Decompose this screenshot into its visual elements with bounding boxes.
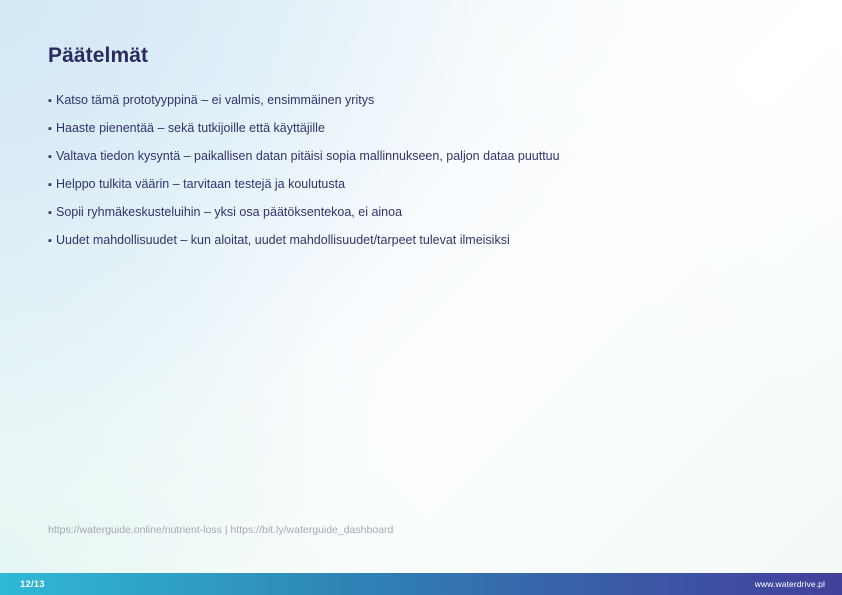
list-item: ▪ Sopii ryhmäkeskusteluihin – yksi osa p… <box>48 205 560 233</box>
list-item-label: Valtava tiedon kysyntä – paikallisen dat… <box>56 149 560 163</box>
bullet-icon: ▪ <box>48 124 56 135</box>
bullet-icon: ▪ <box>48 180 56 191</box>
list-item: ▪ Haaste pienentää – sekä tutkijoille et… <box>48 121 560 149</box>
bullet-icon: ▪ <box>48 236 56 247</box>
list-item: ▪ Valtava tiedon kysyntä – paikallisen d… <box>48 149 560 177</box>
page-title: Päätelmät <box>48 44 148 68</box>
list-item: ▪ Helppo tulkita väärin – tarvitaan test… <box>48 177 560 205</box>
page-indicator: 12/13 <box>20 579 45 590</box>
source-links[interactable]: https://waterguide.online/nutrient-loss … <box>48 524 393 536</box>
bullet-icon: ▪ <box>48 152 56 163</box>
list-item: ▪ Uudet mahdollisuudet – kun aloitat, uu… <box>48 233 560 261</box>
site-url-label[interactable]: www.waterdrive.pl <box>755 579 825 589</box>
footer-bar: 12/13 www.waterdrive.pl <box>0 573 842 595</box>
list-item-label: Haaste pienentää – sekä tutkijoille että… <box>56 121 325 135</box>
list-item-label: Sopii ryhmäkeskusteluihin – yksi osa pää… <box>56 205 402 219</box>
bullet-icon: ▪ <box>48 208 56 219</box>
bullet-icon: ▪ <box>48 96 56 107</box>
slide: Päätelmät ▪ Katso tämä prototyyppinä – e… <box>0 0 842 595</box>
list-item: ▪ Katso tämä prototyyppinä – ei valmis, … <box>48 93 560 121</box>
conclusions-list: ▪ Katso tämä prototyyppinä – ei valmis, … <box>48 93 560 261</box>
list-item-label: Katso tämä prototyyppinä – ei valmis, en… <box>56 93 374 107</box>
list-item-label: Uudet mahdollisuudet – kun aloitat, uude… <box>56 233 510 247</box>
list-item-label: Helppo tulkita väärin – tarvitaan testej… <box>56 177 345 191</box>
